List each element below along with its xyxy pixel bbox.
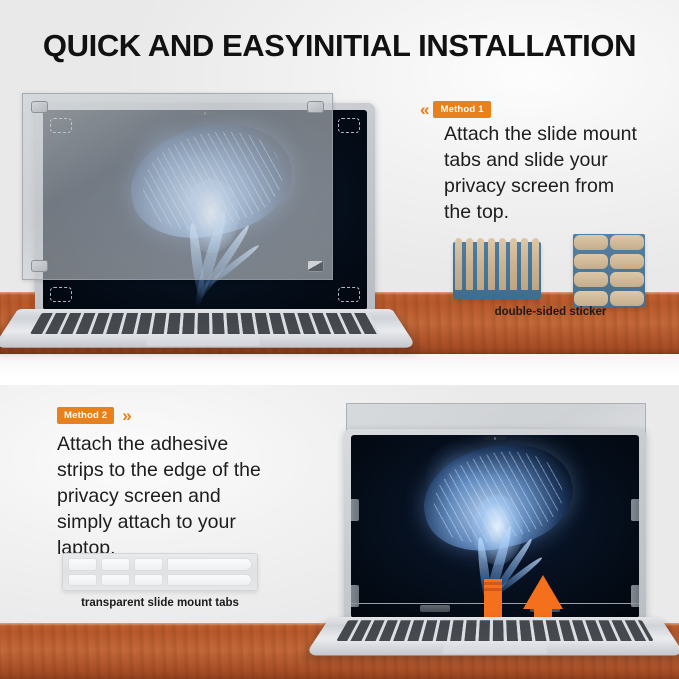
slide-mount-tab-bottom-left — [31, 260, 48, 272]
slide-mount-tab-top-left — [31, 101, 48, 113]
sticker-caption: double-sided sticker — [443, 306, 658, 318]
laptop-bottom — [330, 393, 660, 678]
touchpad-bottom — [442, 644, 548, 654]
infographic-page: QUICK AND EASYINITIAL INSTALLATION — [0, 0, 679, 679]
slide-up-arrow-icon — [523, 575, 563, 618]
panel-method-2: Method 2 » Attach the adhesive strips to… — [0, 385, 679, 679]
slide-mount-tabs-graphic: transparent slide mount tabs — [62, 553, 272, 615]
slide-direction-arrows — [473, 575, 569, 618]
chevron-right-icon: » — [122, 407, 127, 424]
privacy-screen-panel-top — [22, 93, 333, 280]
laptop-lid-bottom — [344, 429, 646, 623]
sticker-pads-sheet — [573, 234, 645, 307]
method-1-instructions: Attach the slide mount tabs and slide yo… — [444, 122, 644, 226]
slide-mount-tab-top-right — [307, 101, 324, 113]
method-2-instructions: Attach the adhesive strips to the edge o… — [57, 432, 277, 562]
side-tab-right-lower — [631, 585, 639, 607]
tab-marker-bottom-right — [338, 287, 360, 302]
slide-down-arrow-icon — [473, 579, 513, 618]
sticker-strips-sheet — [453, 242, 541, 299]
laptop-base-bottom — [305, 617, 679, 656]
method-1-badge: Method 1 — [433, 101, 490, 118]
page-title: QUICK AND EASYINITIAL INSTALLATION — [0, 28, 679, 64]
laptop-base-top — [0, 309, 417, 348]
double-sided-sticker-graphic: double-sided sticker — [443, 232, 658, 312]
chevron-left-icon: « — [420, 101, 425, 118]
screen-foot-left — [420, 605, 450, 612]
webcam-icon-bottom — [483, 436, 507, 440]
tabs-caption: transparent slide mount tabs — [62, 597, 258, 609]
side-tab-left-upper — [351, 499, 359, 521]
method-2-badge: Method 2 — [57, 407, 114, 424]
tabs-sheet — [62, 553, 258, 591]
method-1-header: « Method 1 — [420, 101, 491, 118]
laptop-screen-bottom — [351, 435, 639, 618]
side-tab-right-upper — [631, 499, 639, 521]
panel-divider — [0, 377, 679, 385]
method-2-header: Method 2 » — [57, 407, 128, 424]
tab-marker-bottom-left — [50, 287, 72, 302]
touchpad-top — [146, 336, 260, 346]
keyboard-top — [30, 313, 379, 334]
side-tab-left-lower — [351, 585, 359, 607]
panel-method-1: QUICK AND EASYINITIAL INSTALLATION — [0, 0, 679, 377]
keyboard-bottom — [336, 620, 654, 641]
slide-mount-tab-bottom-right — [307, 260, 324, 272]
tab-marker-top-right — [338, 118, 360, 133]
